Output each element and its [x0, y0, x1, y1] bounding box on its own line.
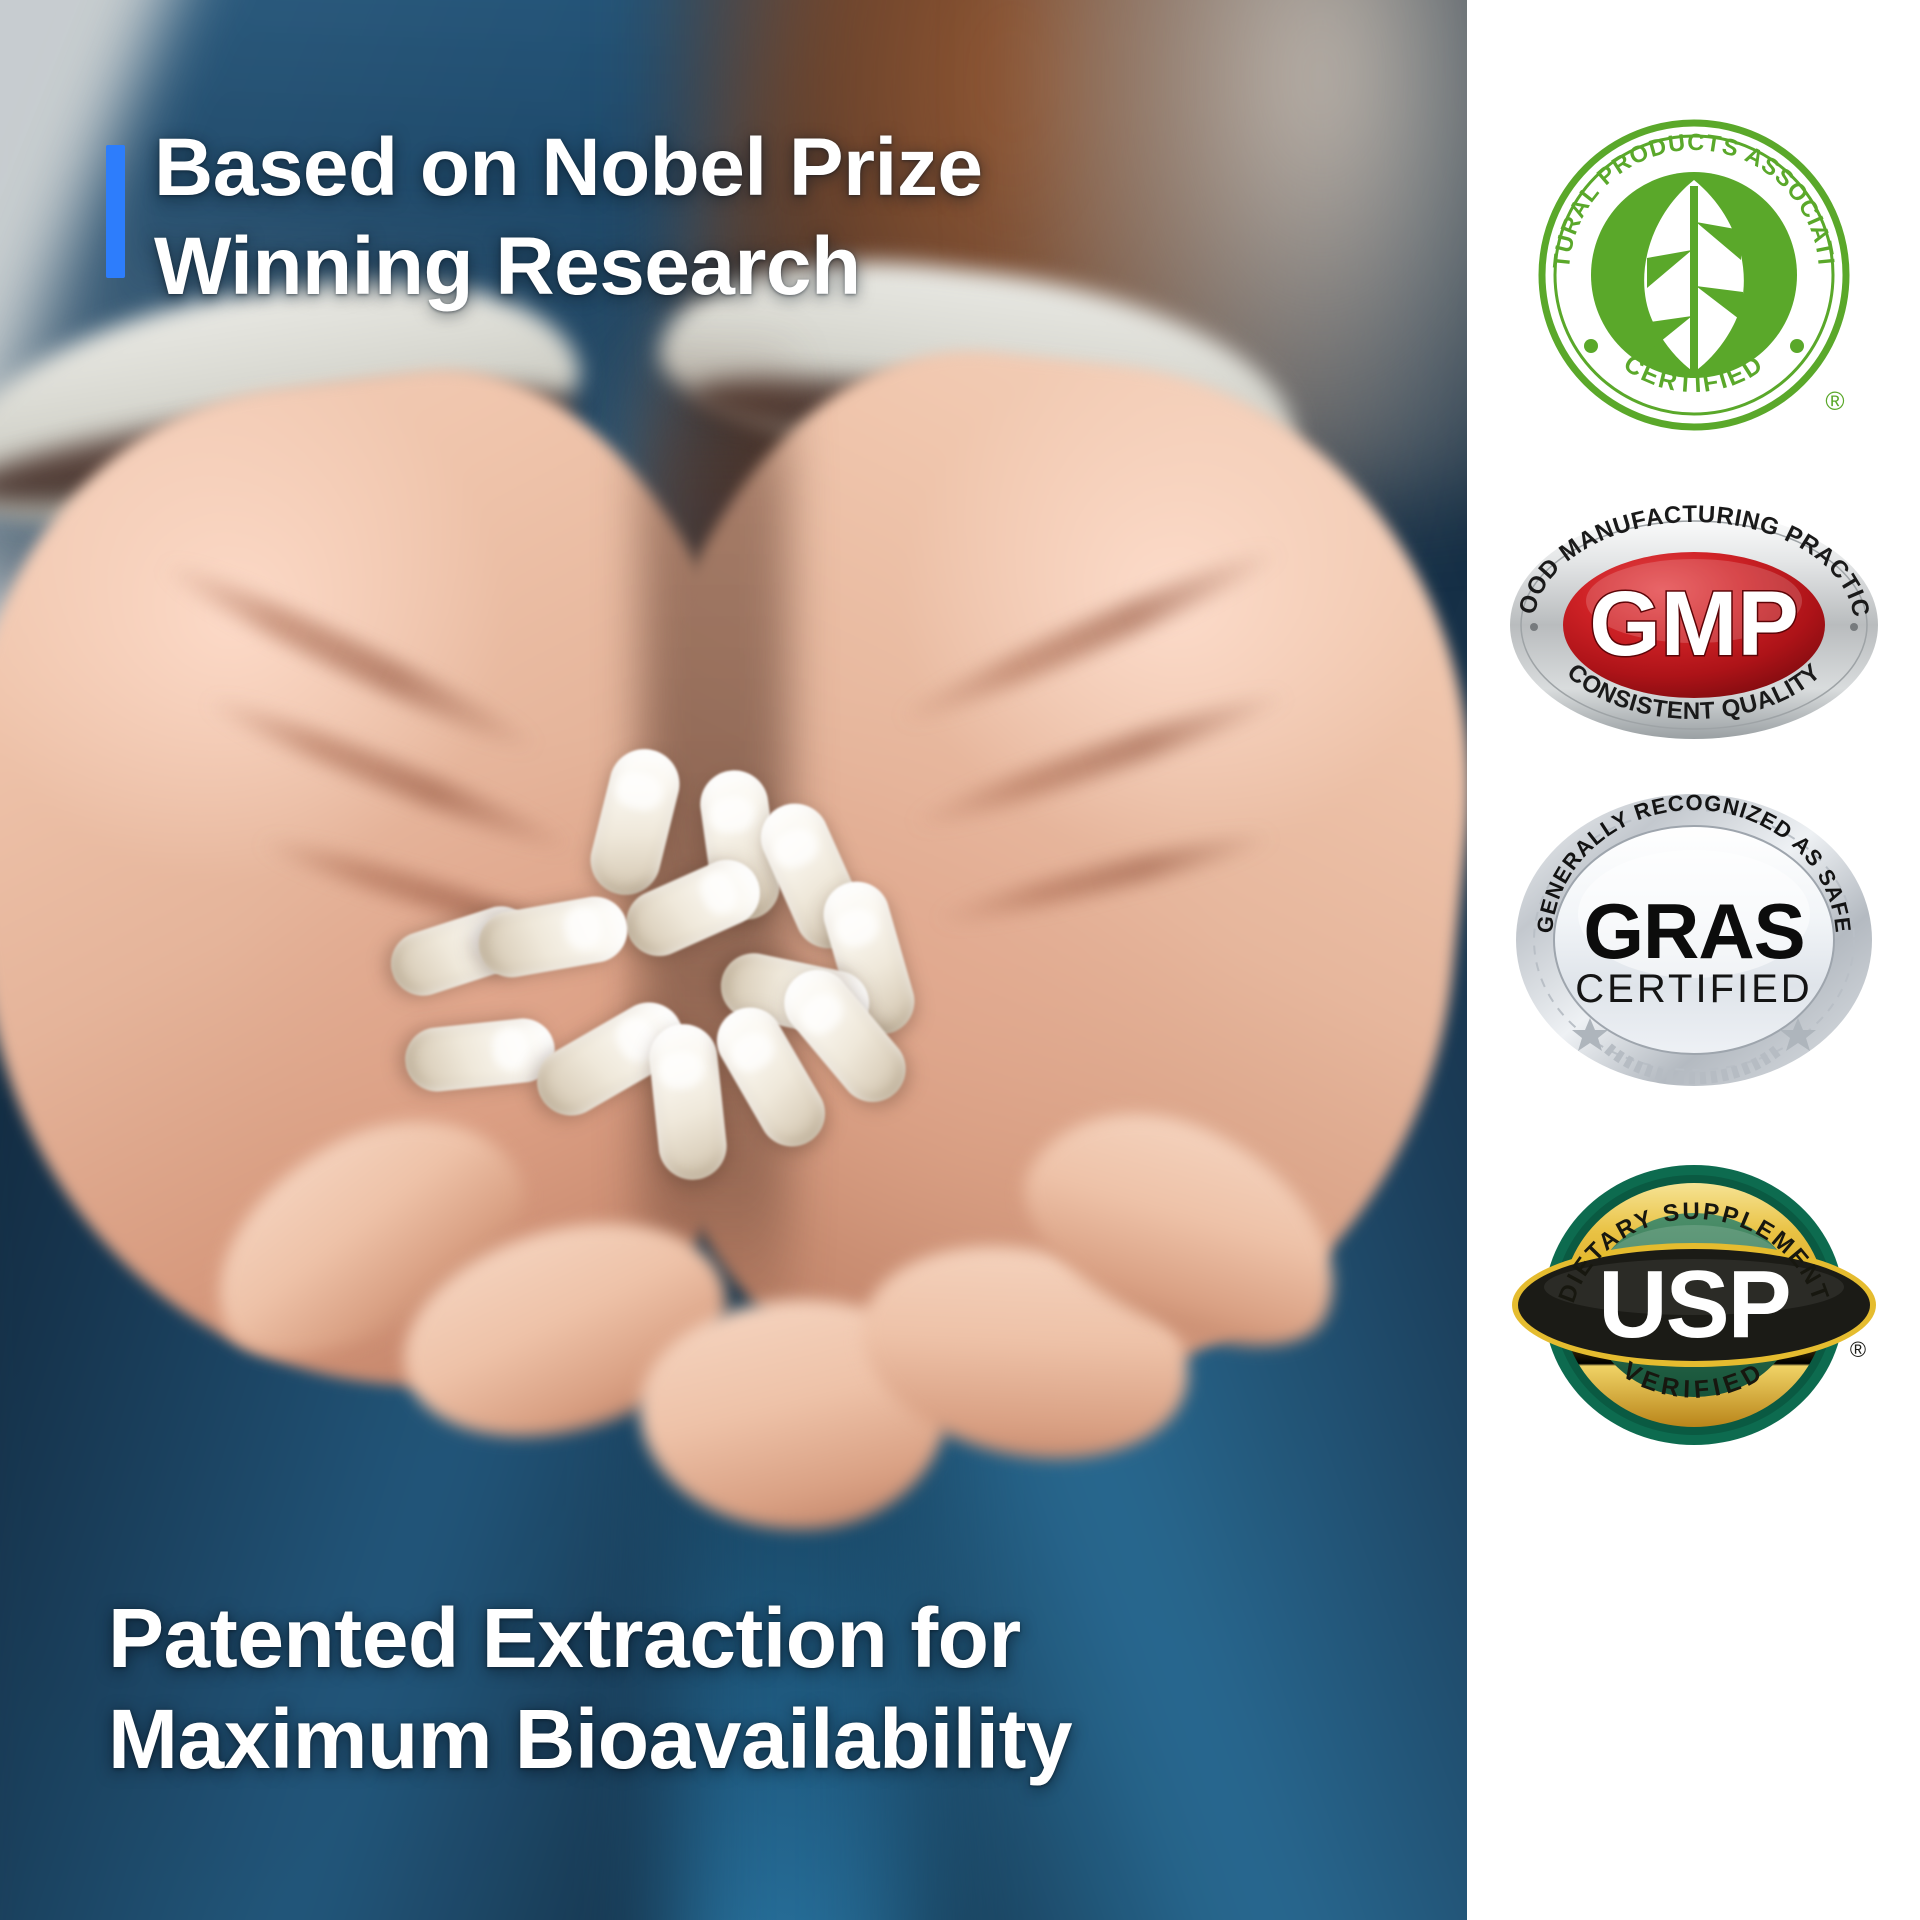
headline-bottom-line1: Patented Extraction for — [108, 1588, 1288, 1689]
npa-trademark: ® — [1825, 386, 1844, 416]
gmp-center-text: GMP — [1589, 573, 1799, 675]
usp-verified-icon: USP DIETARY SUPPLEMENT VERIFIED ® — [1506, 1161, 1882, 1449]
headline-top: Based on Nobel Prize Winning Research — [154, 118, 1254, 316]
accent-bar — [106, 145, 125, 278]
badge-gmp: GMP GOOD MANUFACTURING PRACTICE CONSISTE… — [1467, 500, 1920, 750]
usp-center-text: USP — [1598, 1251, 1789, 1358]
gras-sub-text: CERTIFIED — [1575, 967, 1812, 1011]
certification-panel: NATURAL PRODUCTS ASSOCIATION CERTIFIED ® — [1467, 0, 1920, 1920]
badge-gras-certified: GRAS CERTIFIED GENERALLY RECOGNIZED AS S… — [1467, 790, 1920, 1090]
hero-photo: Based on Nobel Prize Winning Research Pa… — [0, 0, 1467, 1920]
badge-npa-certified: NATURAL PRODUCTS ASSOCIATION CERTIFIED ® — [1467, 110, 1920, 440]
usp-trademark: ® — [1849, 1337, 1865, 1362]
badge-usp-verified: USP DIETARY SUPPLEMENT VERIFIED ® — [1467, 1160, 1920, 1450]
npa-certified-icon: NATURAL PRODUCTS ASSOCIATION CERTIFIED ® — [1529, 110, 1859, 440]
headline-top-line2: Winning Research — [154, 217, 1254, 316]
gras-certified-icon: GRAS CERTIFIED GENERALLY RECOGNIZED AS S… — [1512, 790, 1876, 1090]
gras-center-text: GRAS — [1583, 887, 1804, 975]
product-marketing-image: Based on Nobel Prize Winning Research Pa… — [0, 0, 1920, 1920]
gmp-icon: GMP GOOD MANUFACTURING PRACTICE CONSISTE… — [1508, 509, 1880, 741]
headline-bottom-line2: Maximum Bioavailability — [108, 1689, 1288, 1790]
headline-bottom: Patented Extraction for Maximum Bioavail… — [108, 1588, 1288, 1790]
headline-top-line1: Based on Nobel Prize — [154, 118, 1254, 217]
